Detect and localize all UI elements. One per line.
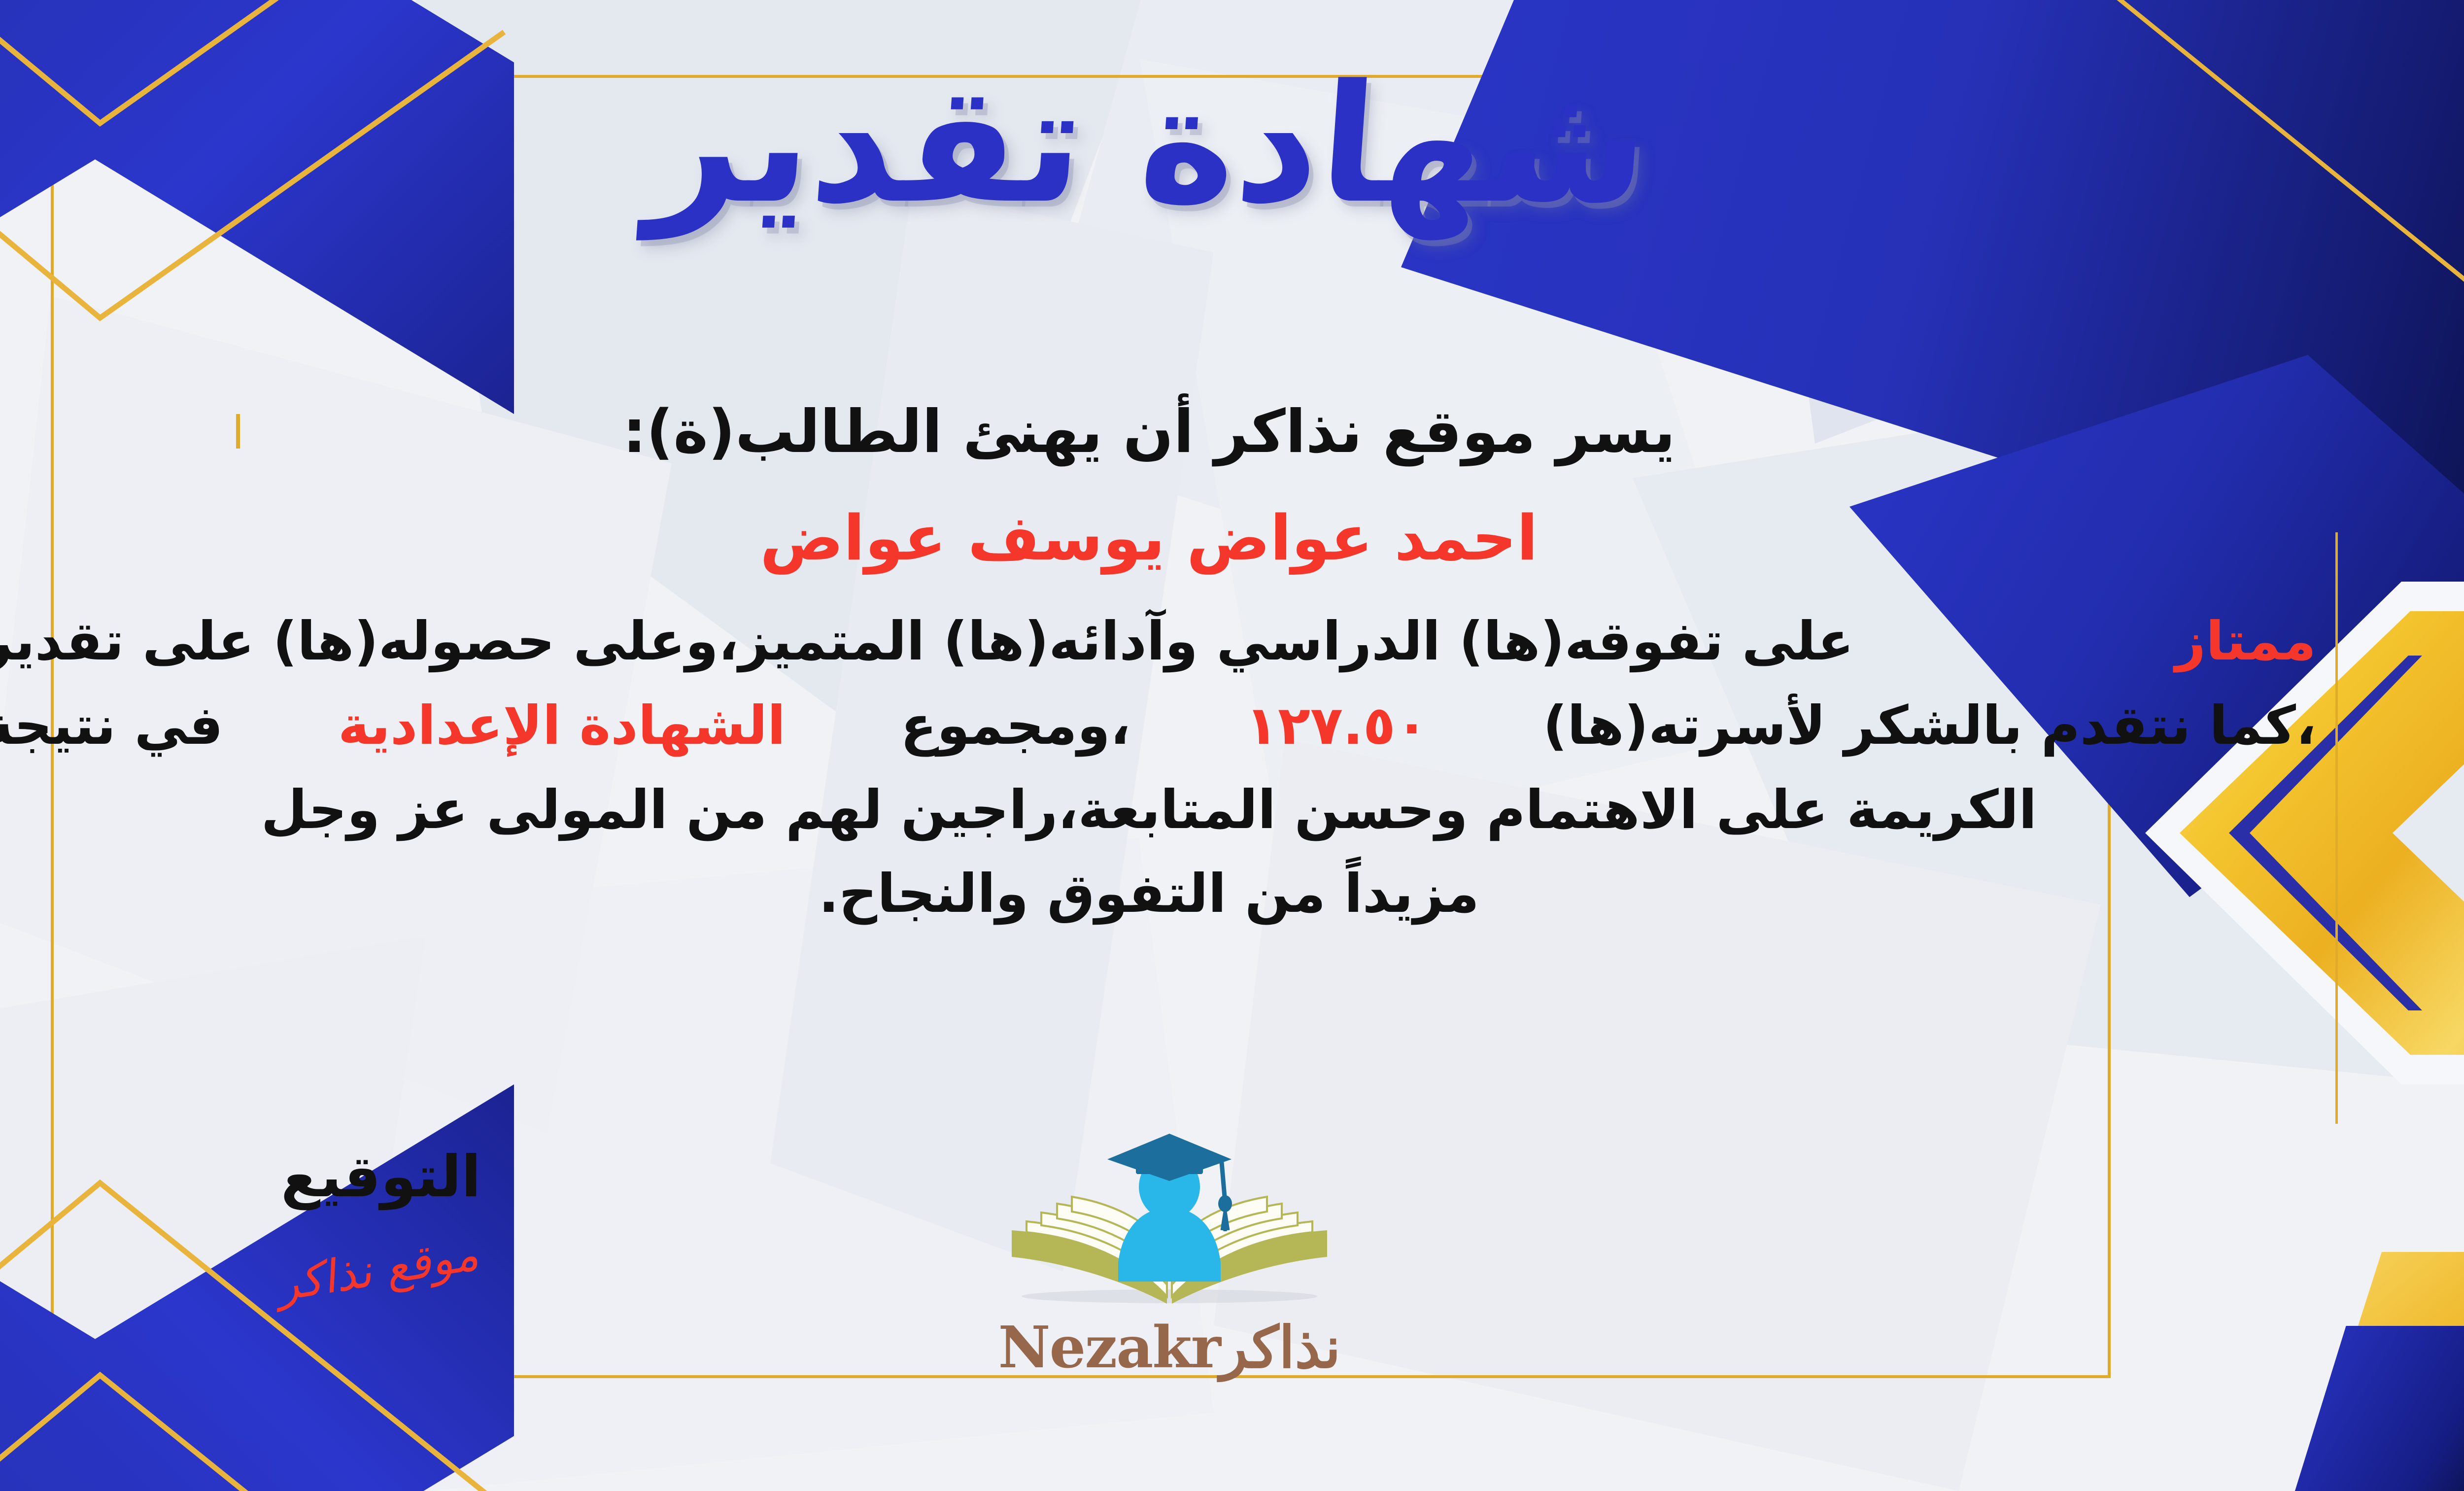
student-name: احمد عواض يوسف عواض xyxy=(0,502,2316,574)
signature-area: التوقيع موقع نذاكر xyxy=(208,1144,553,1295)
total-score: ١٢٧.٥٠ xyxy=(1245,684,1428,768)
body-line-4-right: في نتيجة xyxy=(0,684,223,768)
body-line-5: الكريمة على الاهتمام وحسن المتابعة،راجين… xyxy=(0,768,2316,853)
signature-label: التوقيع xyxy=(208,1144,553,1210)
intro-line: يسر موقع نذاكر أن يهنئ الطالب(ة): xyxy=(0,384,2316,480)
signature-handwriting: موقع نذاكر xyxy=(279,1226,483,1312)
body-line-result: في نتيجة الشهادة الإعدادية ،ومجموع ١٢٧.٥… xyxy=(0,684,2316,768)
certificate-body: يسر موقع نذاكر أن يهنئ الطالب(ة): احمد ع… xyxy=(0,384,2316,936)
body-line-grade: على تفوقه(ها) الدراسي وآدائه(ها) المتميز… xyxy=(0,600,2316,684)
body-line-6: مزيداً من التفوق والنجاح. xyxy=(0,852,2316,936)
logo-wordmark: نذاكرNezakr xyxy=(982,1314,1357,1381)
grade-value: ممتاز xyxy=(2175,600,2316,684)
certificate-page: شهادة تقدير يسر موقع نذاكر أن يهنئ الطال… xyxy=(0,0,2464,1491)
certificate-title: شهادة تقدير xyxy=(0,63,2464,226)
body-line-4-left: ،كما نتقدم بالشكر لأسرته(ها) xyxy=(1543,684,2316,768)
graduate-book-logo-icon xyxy=(982,1134,1357,1311)
body-line-3-text: على تفوقه(ها) الدراسي وآدائه(ها) المتميز… xyxy=(0,600,1854,684)
site-logo: نذاكرNezakr xyxy=(982,1134,1357,1381)
exam-name: الشهادة الإعدادية xyxy=(338,684,786,768)
body-line-4-mid: ،ومجموع xyxy=(900,684,1130,768)
